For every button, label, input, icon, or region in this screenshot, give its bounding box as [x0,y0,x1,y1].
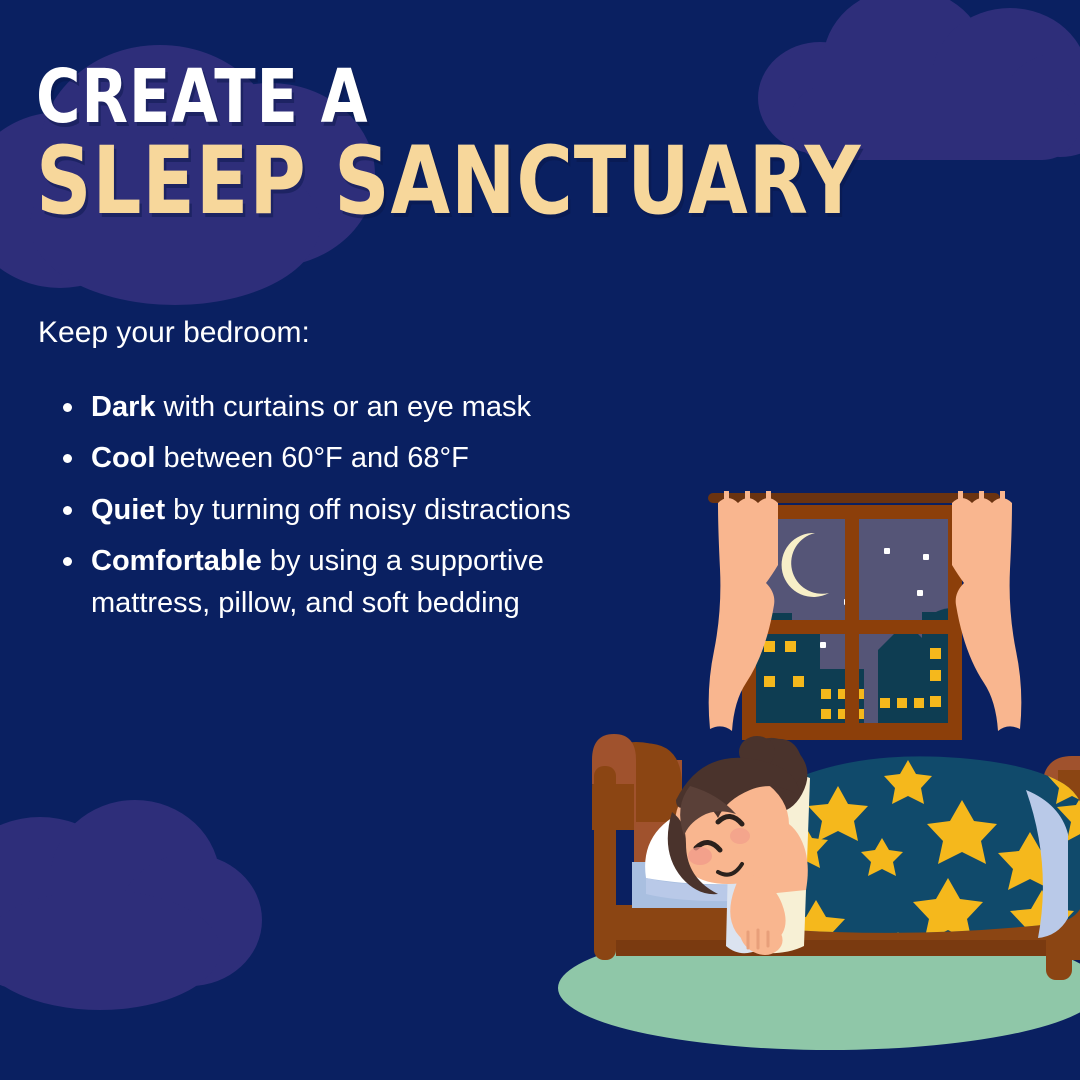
bullet-rest-text: between 60°F and 68°F [155,442,468,474]
bullet-bold-term: Cool [91,442,155,474]
right-curtain [952,491,1021,731]
headline-line-1: CREATE A [36,62,861,133]
bullet-dot-icon [63,454,72,463]
headline-line-2: SLEEP SANCTUARY [36,137,861,227]
list-item: Cool between 60°F and 68°F [38,437,658,479]
bullet-rest-text: by turning off noisy distractions [165,494,571,526]
bullet-dot-icon [63,557,72,566]
bullet-dot-icon [63,506,72,515]
list-item: Quiet by turning off noisy distractions [38,489,658,531]
headline-block: CREATE A SLEEP SANCTUARY [36,62,1042,227]
poster-canvas: CREATE A SLEEP SANCTUARY Keep your bedro… [0,0,1080,1080]
lede-text: Keep your bedroom: [38,316,310,350]
bullet-bold-term: Quiet [91,494,165,526]
list-item: Comfortable by using a supportive mattre… [38,540,658,625]
bullet-rest-text: with curtains or an eye mask [156,391,532,423]
bullet-list: Dark with curtains or an eye mask Cool b… [38,386,658,634]
bed-base-shadow [616,940,1066,956]
bullet-dot-icon [63,403,72,412]
bullet-bold-term: Dark [91,391,156,423]
window-group [708,491,1021,740]
bullet-bold-term: Comfortable [91,545,262,577]
list-item: Dark with curtains or an eye mask [38,386,658,428]
